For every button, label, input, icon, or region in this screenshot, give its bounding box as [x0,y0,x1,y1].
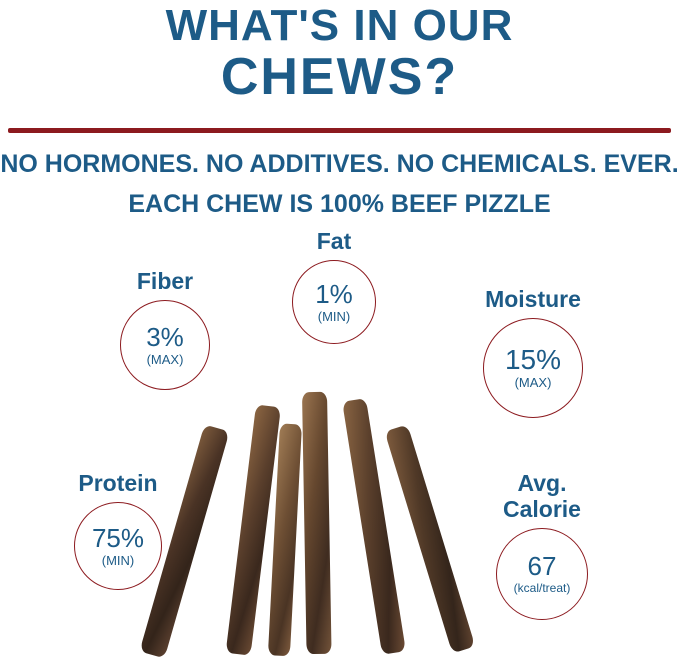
stat-moisture: Moisture 15% (MAX) [450,286,616,418]
stat-moisture-unit: (MAX) [515,375,552,390]
stat-fat-unit: (MIN) [318,309,351,324]
stat-protein-value: 75% [92,524,144,552]
stat-fiber-label: Fiber [95,268,235,294]
subhead-line-2: EACH CHEW IS 100% BEEF PIZZLE [0,190,679,219]
stat-avg-calorie-circle: 67 (kcal/treat) [496,528,588,620]
stat-fiber-unit: (MAX) [147,352,184,367]
stat-fiber-value: 3% [146,323,184,351]
headline-line-1: WHAT'S IN OUR [0,2,679,50]
chew-stick-3 [302,392,332,654]
stat-protein-circle: 75% (MIN) [74,502,162,590]
stat-protein-unit: (MIN) [102,553,135,568]
subhead-line-1: NO HORMONES. NO ADDITIVES. NO CHEMICALS.… [0,150,679,179]
stat-fat-label: Fat [268,228,400,254]
stat-fat-value: 1% [315,280,353,308]
infographic-canvas: WHAT'S IN OUR CHEWS? NO HORMONES. NO ADD… [0,0,679,659]
stat-avg-calorie-unit: (kcal/treat) [514,581,571,596]
stat-protein: Protein 75% (MIN) [42,470,194,590]
stat-fat-circle: 1% (MIN) [292,260,376,344]
stat-fat: Fat 1% (MIN) [268,228,400,344]
stat-avg-calorie-value: 67 [528,552,557,580]
beef-chews-illustration [170,380,470,659]
stat-moisture-label: Moisture [450,286,616,312]
stat-avg-calorie: Avg. Calorie 67 (kcal/treat) [460,470,624,620]
stat-moisture-value: 15% [505,346,561,374]
stat-fiber: Fiber 3% (MAX) [95,268,235,390]
stat-fiber-circle: 3% (MAX) [120,300,210,390]
stat-protein-label: Protein [42,470,194,496]
stat-moisture-circle: 15% (MAX) [483,318,583,418]
headline-line-2: CHEWS? [0,48,679,106]
stat-avg-calorie-label: Avg. Calorie [460,470,624,522]
red-divider-rule [8,128,671,133]
